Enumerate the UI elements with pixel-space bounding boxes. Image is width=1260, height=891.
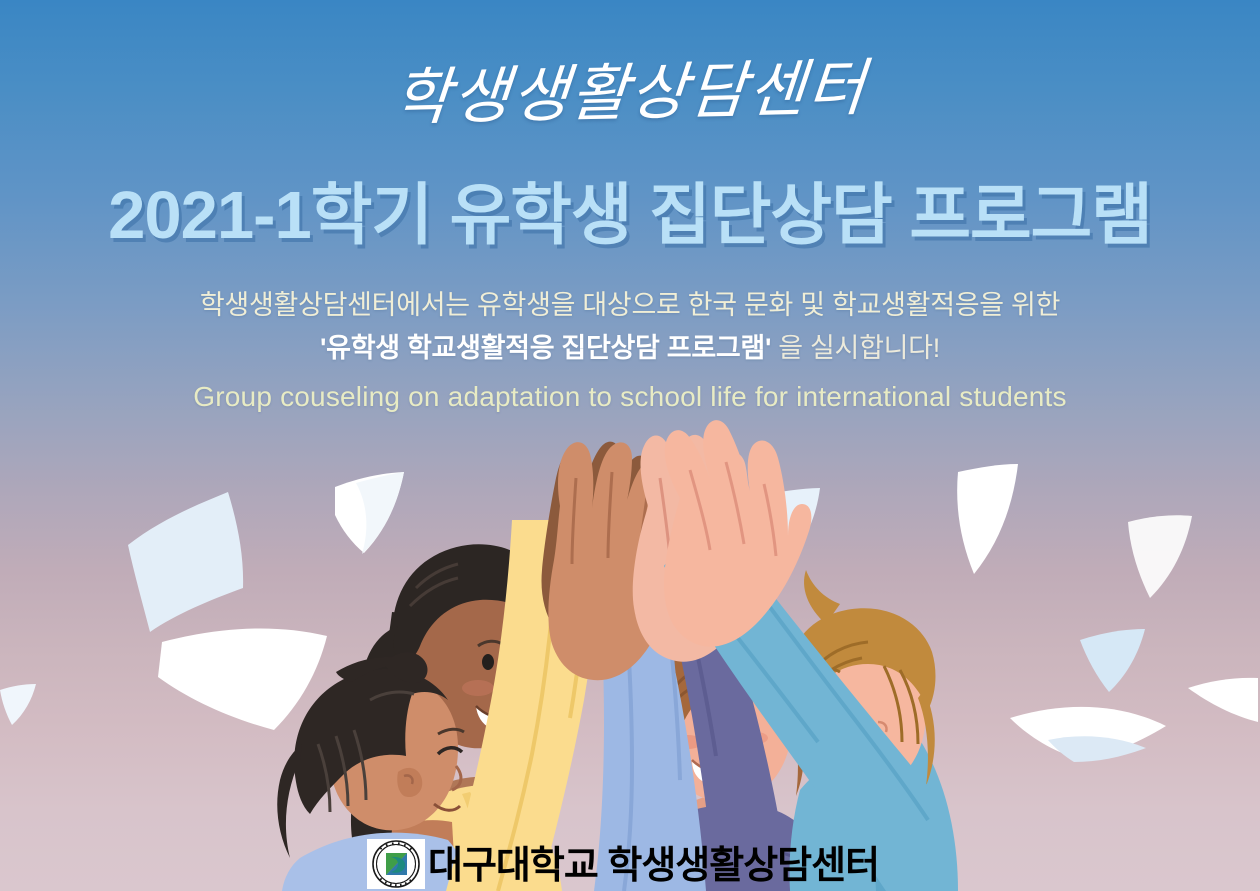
subtitle-line-2: '유학생 학교생활적응 집단상담 프로그램' 을 실시합니다!	[0, 327, 1260, 370]
program-name-emphasis: '유학생 학교생활적응 집단상담 프로그램'	[320, 333, 771, 363]
page-title: 2021-1학기 유학생 집단상담 프로그램	[0, 180, 1260, 251]
subtitle-english: Group couseling on adaptation to school …	[0, 377, 1260, 417]
script-title: 학생생활상담센터	[0, 49, 1260, 137]
subtitle-line-2-tail: 을 실시합니다!	[771, 333, 940, 363]
footer-organization-name: 대구대학교 학생생활상담센터	[428, 842, 879, 890]
subtitle-line-1: 학생생활상담센터에서는 유학생을 대상으로 한국 문화 및 학교생활적응을 위한	[0, 284, 1260, 327]
footer-bar: 대구대학교 학생생활상담센터	[0, 839, 1260, 891]
poster-canvas: 학생생활상담센터 2021-1학기 유학생 집단상담 프로그램 학생생활상담센터…	[0, 0, 1260, 891]
subtitle-block: 학생생활상담센터에서는 유학생을 대상으로 한국 문화 및 학교생활적응을 위한…	[0, 284, 1260, 417]
daegu-university-seal-icon	[367, 839, 425, 889]
